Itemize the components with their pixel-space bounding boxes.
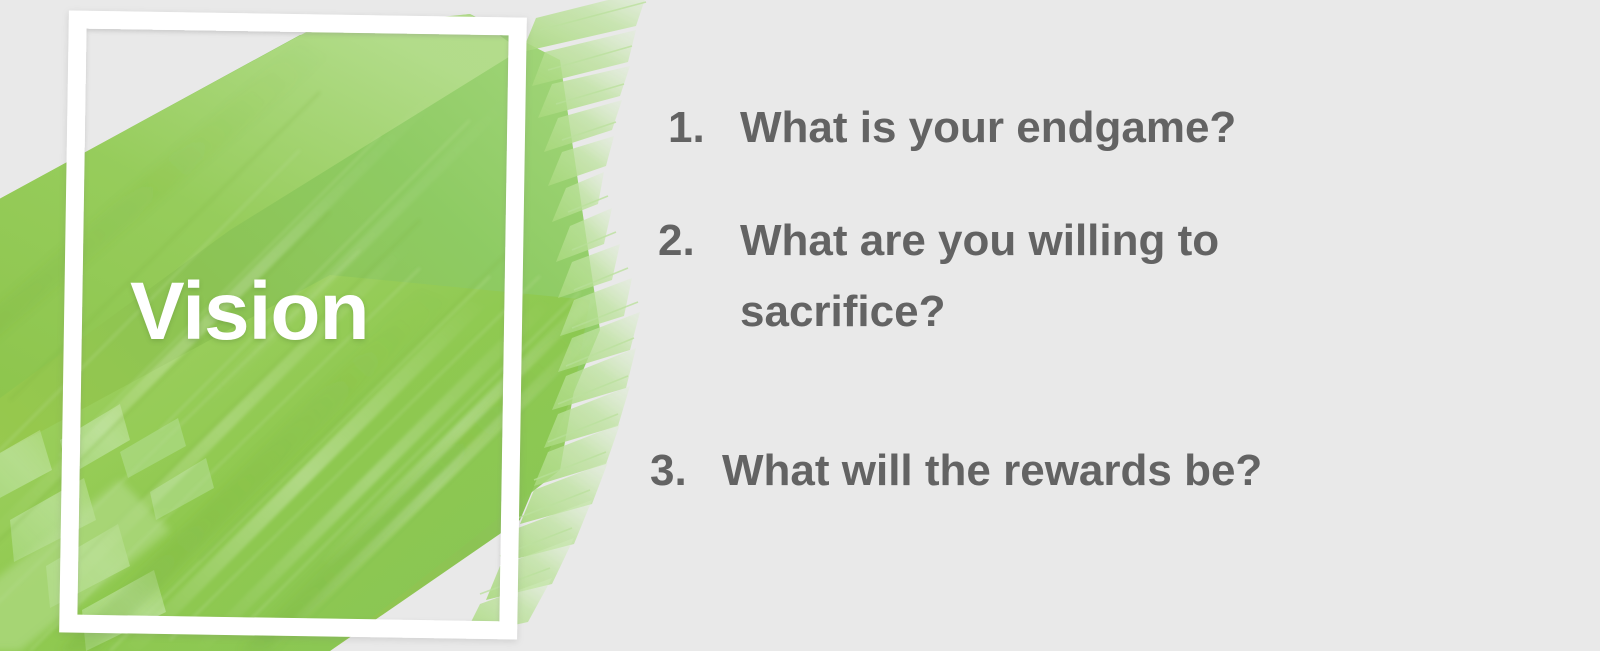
list-item-text: What is your endgame? <box>740 92 1236 163</box>
page-title: Vision <box>130 271 369 353</box>
list-item: 2. What are you willing to sacrifice? <box>658 205 1219 348</box>
list-item: 1. What is your endgame? <box>668 92 1236 163</box>
list-item-text: What will the rewards be? <box>722 435 1262 506</box>
list-item: 3. What will the rewards be? <box>650 435 1262 506</box>
list-item-number: 2. <box>658 218 740 264</box>
vision-slide: Vision 1. What is your endgame? 2. What … <box>0 0 1600 651</box>
list-item-text: What are you willing to sacrifice? <box>740 205 1219 348</box>
list-item-number: 3. <box>650 448 722 494</box>
question-list: 1. What is your endgame? 2. What are you… <box>640 0 1540 651</box>
vision-artwork: Vision <box>0 0 680 651</box>
list-item-number: 1. <box>668 105 740 151</box>
